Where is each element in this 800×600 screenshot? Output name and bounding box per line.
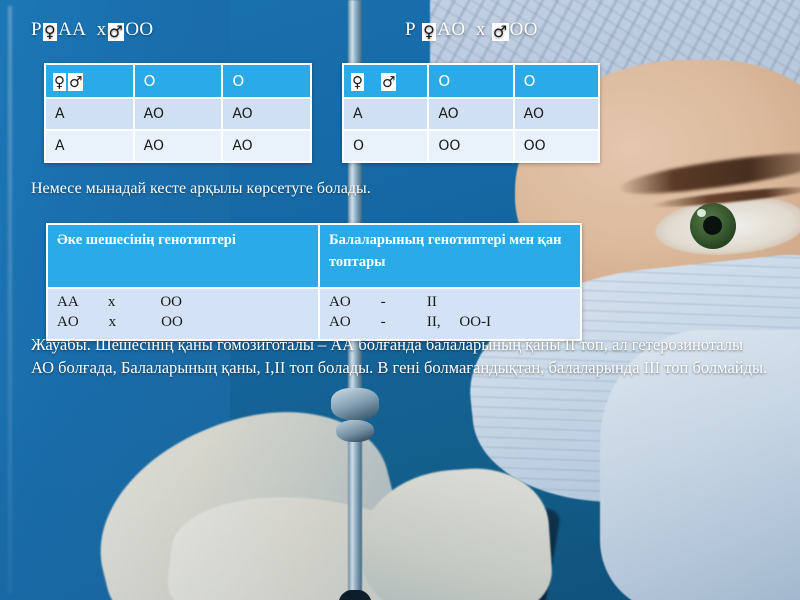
punnett-left-body: A AO AO A AO AO [45,98,311,162]
table-row: O OO OO [343,130,599,162]
answer-paragraph: Жауабы. Шешесінің қаны гомозиготалы – АА… [31,333,769,380]
cross-heading-right-prefix: P [405,19,416,40]
cross-heading-left-operator: x [97,19,107,40]
punnett-left-cell: AO [222,130,311,162]
table-row: AA x OO AO x OO AO - II AO - II, OO-I [47,288,581,340]
punnett-right-header-row: ♀♂ O O [343,64,599,98]
punnett-right-col-header: O [428,64,513,98]
cross-heading-right-male-genotype: OO [510,19,538,40]
male-symbol-icon: ♂ [108,23,125,41]
punnett-left-cell: AO [222,98,311,130]
table-row: A AO AO [45,130,311,162]
female-symbol-icon: ♀ [53,73,66,91]
female-symbol-icon: ♀ [351,73,364,91]
punnett-right-col-header: O [514,64,599,98]
punnett-left-col-header: O [134,64,223,98]
cross-heading-right: P ♀AO x ♂OO [405,19,538,41]
punnett-right-row-gamete: A [343,98,428,130]
punnett-square-right: ♀♂ O O A AO AO O OO OO [342,63,600,163]
punnett-left-cell: AO [134,98,223,130]
female-symbol-icon: ♀ [422,23,436,41]
cross-heading-right-operator: x [476,19,486,40]
punnett-left-row-gamete: A [45,130,134,162]
punnett-right-cell: AO [428,98,513,130]
punnett-left-row-gamete: A [45,98,134,130]
punnett-left-head: ♀♂ O O [45,64,311,98]
punnett-square-left: ♀♂ O O A AO AO A AO AO [44,63,312,163]
male-symbol-icon: ♂ [492,23,509,41]
punnett-left-corner: ♀♂ [45,64,134,98]
punnett-right-corner: ♀♂ [343,64,428,98]
summary-table-header-parents: Әке шешесінің генотиптері [47,224,319,288]
table-row: A AO AO [343,98,599,130]
male-symbol-icon: ♂ [381,73,396,91]
cross-heading-left-female-genotype: AA [58,19,86,40]
child-result: AO - II [329,293,571,313]
table-row: A AO AO [45,98,311,130]
punnett-left-header-row: ♀♂ O O [45,64,311,98]
summary-table-head: Әке шешесінің генотиптері Балаларының ге… [47,224,581,288]
slide-content: P♀AA x♂OO P ♀AO x ♂OO ♀♂ O O A AO [0,0,800,600]
summary-table-body: AA x OO AO x OO AO - II AO - II, OO-I [47,288,581,340]
punnett-left-cell: AO [134,130,223,162]
cross-heading-left-male-genotype: OO [125,19,153,40]
parent-pair: AO x OO [57,313,309,333]
summary-table-header-children: Балаларының генотиптері мен қан топтары [319,224,581,288]
punnett-right-cell: OO [514,130,599,162]
punnett-right-row-gamete: O [343,130,428,162]
cross-heading-left-prefix: P [31,19,42,40]
summary-table-parents-cell: AA x OO AO x OO [47,288,319,340]
female-symbol-icon: ♀ [43,23,57,41]
cross-heading-left: P♀AA x♂OO [31,19,154,41]
summary-table-children-cell: AO - II AO - II, OO-I [319,288,581,340]
note-line: Немесе мынадай кесте арқылы көрсетуге бо… [31,180,371,198]
slide-canvas: P♀AA x♂OO P ♀AO x ♂OO ♀♂ O O A AO [0,0,800,600]
cross-heading-right-female-genotype: AO [437,19,465,40]
punnett-right-cell: OO [428,130,513,162]
child-result: AO - II, OO-I [329,313,571,333]
summary-table: Әке шешесінің генотиптері Балаларының ге… [46,223,582,341]
male-symbol-icon: ♂ [68,73,83,91]
punnett-left-col-header: O [222,64,311,98]
parent-pair: AA x OO [57,293,309,313]
summary-table-header-row: Әке шешесінің генотиптері Балаларының ге… [47,224,581,288]
punnett-right-body: A AO AO O OO OO [343,98,599,162]
punnett-right-cell: AO [514,98,599,130]
punnett-right-head: ♀♂ O O [343,64,599,98]
